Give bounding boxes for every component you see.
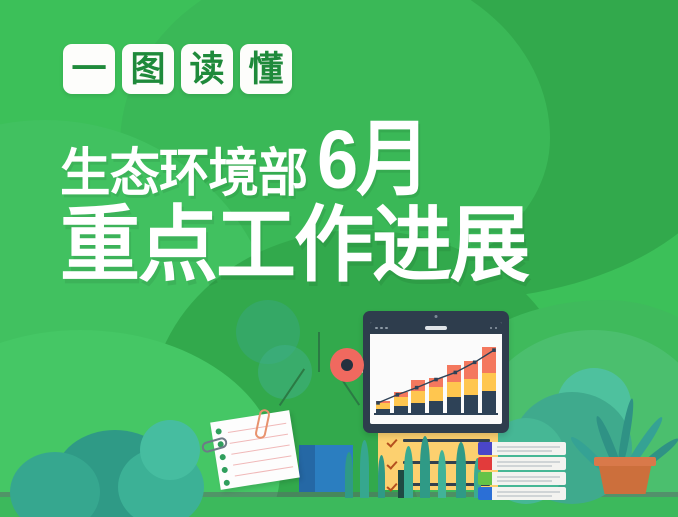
title-main: 重点工作进展 [60,204,528,287]
badge-char: 图 [122,44,174,94]
page-title: 生态环境部 6月 重点工作进展 [60,122,528,284]
badge-char: 懂 [240,44,292,94]
grass-blade [345,452,353,498]
infographic-poster: 一 图 读 懂 生态环境部 6月 重点工作进展 [0,0,678,517]
trend-line-series [370,334,502,421]
tablet-device [363,311,509,433]
checklist-line [403,439,490,442]
notepad [210,410,300,490]
book-spine [478,487,492,500]
check-icon [386,435,397,446]
book-pages [492,442,566,455]
book-spine [478,472,492,485]
magnifier-icon [330,348,364,382]
plant-pot-rim [594,457,656,466]
magnifier-core [341,359,353,371]
grass-blade [404,446,413,498]
chart-axis [374,413,498,415]
grass-blade [378,455,385,498]
grass-stem [398,470,404,498]
checklist-row [386,435,490,446]
chart-area [370,334,502,421]
browser-titlebar [370,322,502,334]
tablet-camera-icon [435,315,438,318]
badge-one-image-read: 一 图 读 懂 [63,44,292,94]
title-month: 6月 [317,117,429,200]
book-pages [492,487,566,500]
bush-left-d [140,420,200,480]
plant-pot [598,462,652,494]
bush-mid-back-b [258,345,312,399]
window-dots-right-icon [490,327,498,330]
list-item [478,472,566,485]
badge-char: 读 [181,44,233,94]
blue-box-shadow [299,445,315,492]
title-department: 生态环境部 [60,148,307,200]
grass-blade [360,440,369,498]
book-spine [478,442,492,455]
address-pill [425,326,447,330]
check-icon [386,457,397,468]
list-item [478,457,566,470]
badge-char: 一 [63,44,115,94]
window-dots-icon [375,327,388,330]
book-stack [478,442,566,502]
book-spine [478,457,492,470]
tablet-screen [370,322,502,424]
list-item [478,487,566,500]
book-pages [492,472,566,485]
list-item [478,442,566,455]
grass-blade [438,450,446,498]
book-pages [492,457,566,470]
title-line-one: 生态环境部 6月 [60,122,528,200]
check-icon [386,479,397,490]
grass-blade [420,436,430,498]
cord-vertical [318,332,320,372]
grass-blade [456,442,466,498]
